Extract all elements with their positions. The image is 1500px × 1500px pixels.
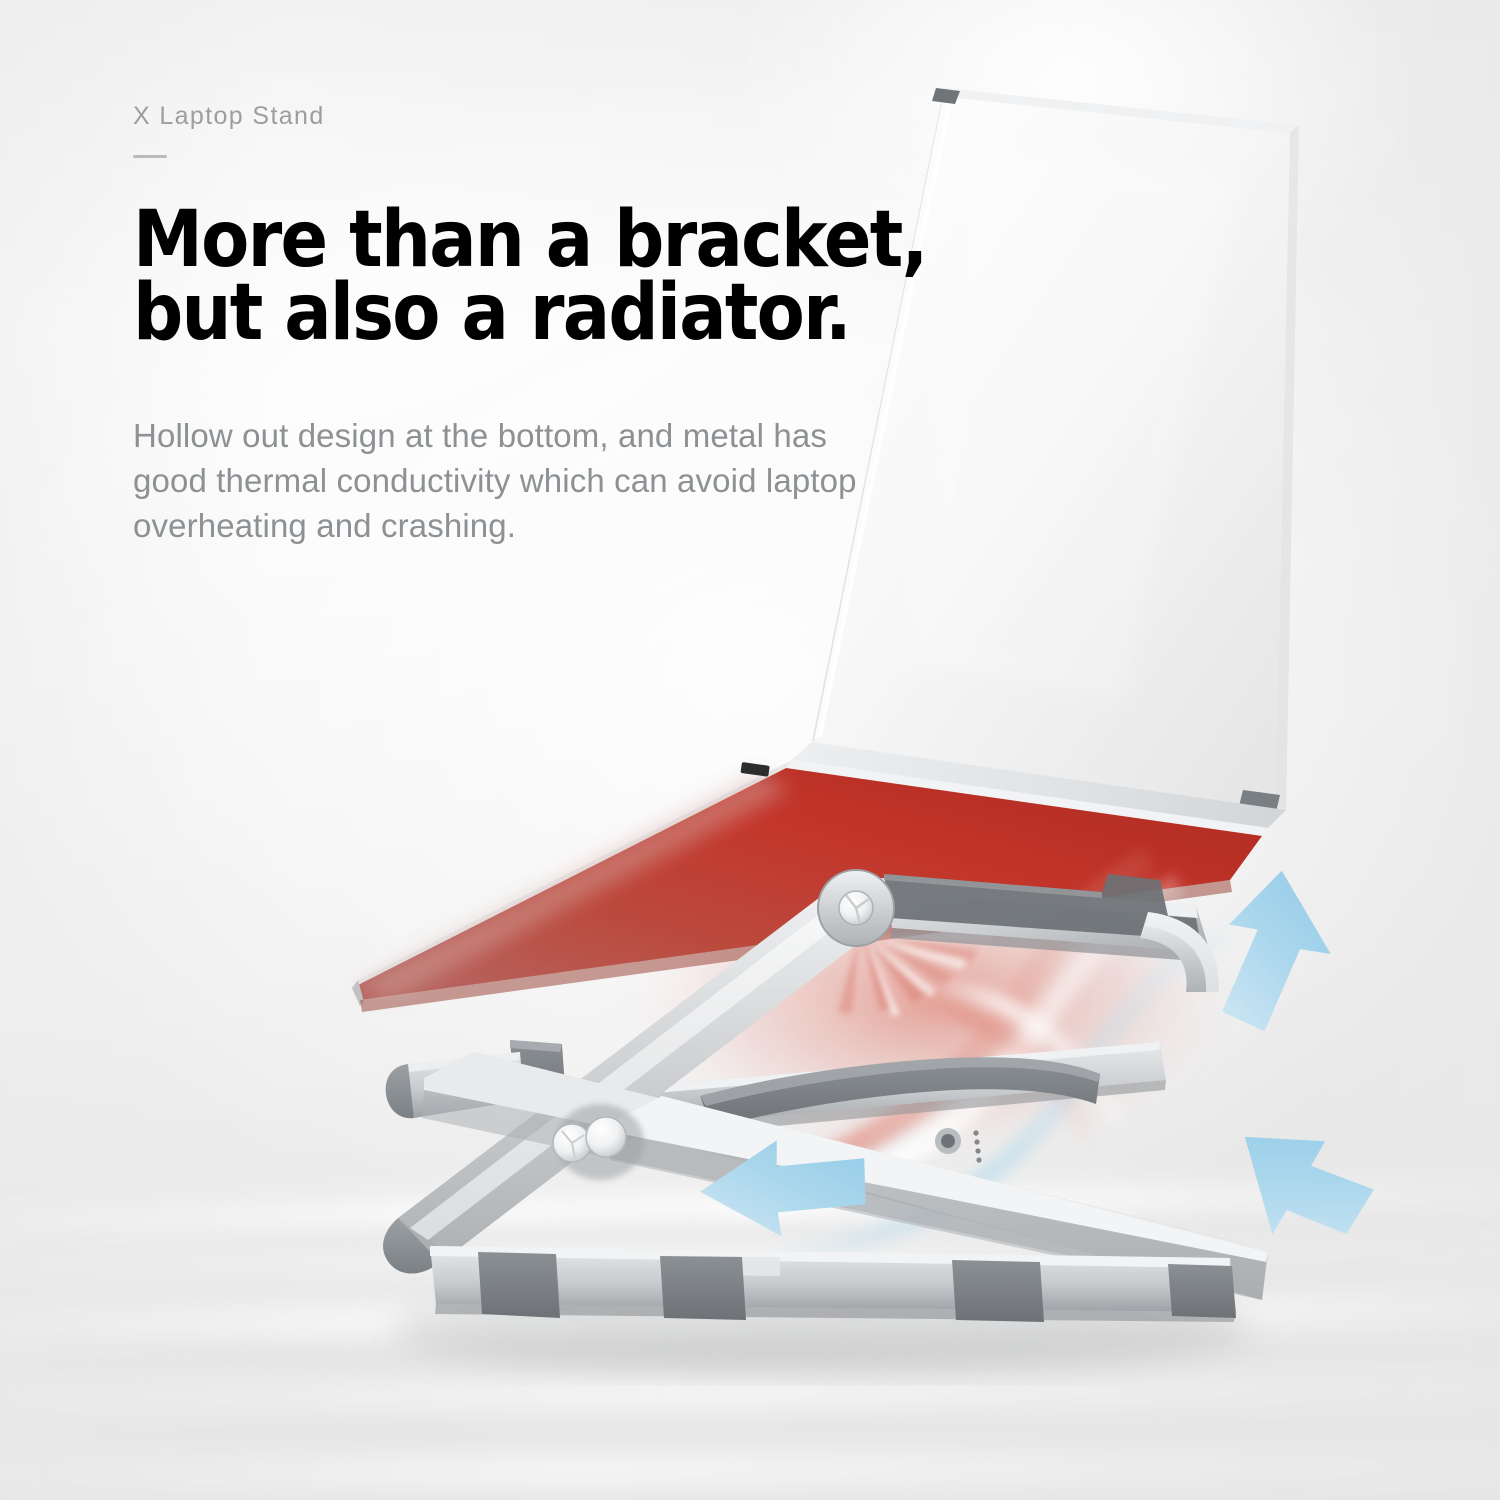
product-marketing-banner: X Laptop Stand More than a bracket, but … — [0, 0, 1500, 1500]
headline-line-2: but also a radiator. — [133, 277, 927, 350]
eyebrow-divider — [133, 155, 167, 158]
eyebrow-label: X Laptop Stand — [133, 104, 927, 129]
body-copy: Hollow out design at the bottom, and met… — [133, 413, 927, 548]
copy-block: X Laptop Stand More than a bracket, but … — [133, 104, 927, 548]
body-line-3: overheating and crashing. — [133, 503, 927, 548]
stand-foot-pad-far-right — [1168, 1264, 1236, 1318]
stand-foot-pad-mid — [660, 1256, 746, 1320]
body-line-1: Hollow out design at the bottom, and met… — [133, 413, 927, 458]
body-line-2: good thermal conductivity which can avoi… — [133, 458, 927, 503]
stand-bottom-front-rail — [430, 1246, 1236, 1322]
page-title: More than a bracket, but also a radiator… — [133, 204, 927, 349]
stand-foot-pad-right — [952, 1260, 1044, 1322]
stand-foot-pad-left — [478, 1252, 560, 1318]
usb-port — [740, 762, 769, 777]
